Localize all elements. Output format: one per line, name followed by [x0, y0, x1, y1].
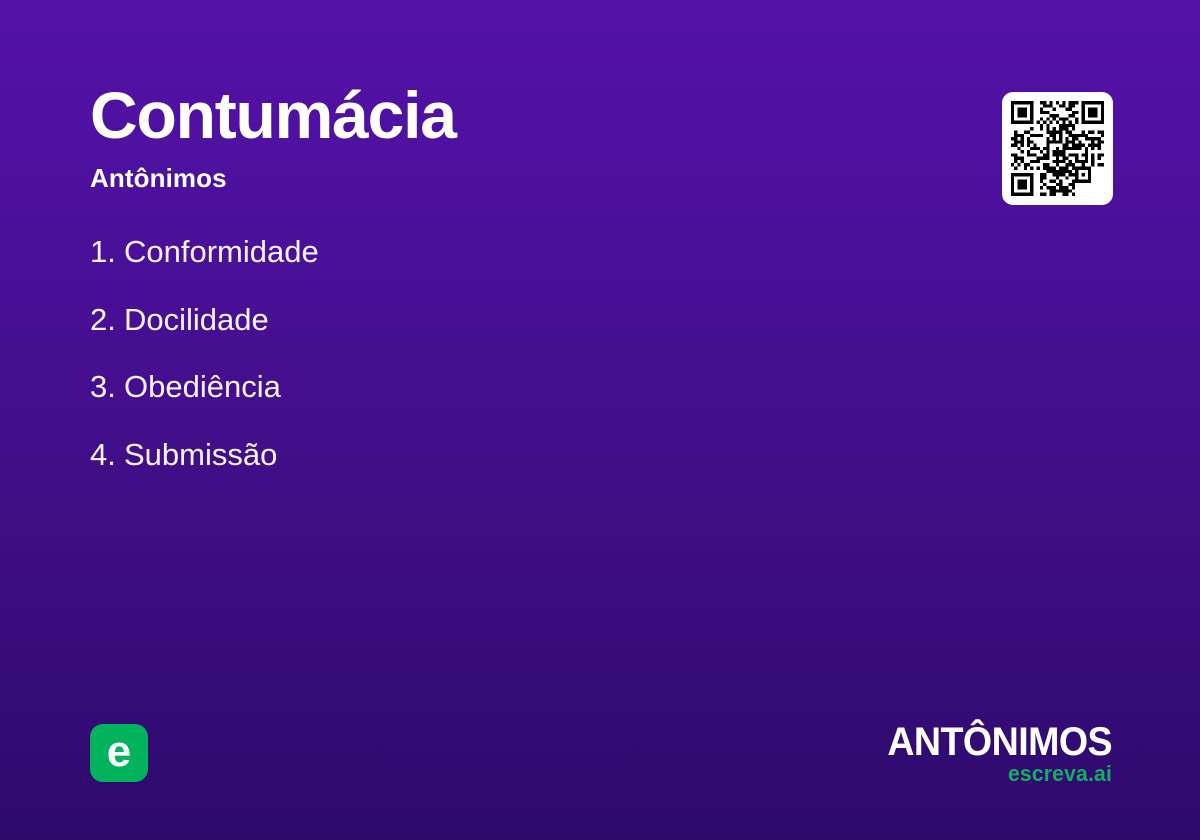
qr-code-panel[interactable]: [1002, 92, 1113, 205]
qr-code-icon: [1011, 101, 1104, 196]
antonym-list: 1.Conformidade 2.Docilidade 3.Obediência…: [90, 236, 850, 470]
page-title: Contumácia: [90, 82, 910, 149]
list-item-index: 3.: [90, 371, 124, 403]
list-item: 4.Submissão: [90, 439, 850, 471]
antonyms-card: Contumácia Antônimos 1.Conformidade 2.Do…: [0, 0, 1200, 840]
list-item-term: Docilidade: [124, 304, 269, 336]
header-block: Contumácia Antônimos: [90, 82, 910, 194]
list-item: 1.Conformidade: [90, 236, 850, 268]
brand-wordmark: ANTÔNIMOS escreva.ai: [873, 722, 1112, 785]
list-item-term: Conformidade: [124, 236, 319, 268]
list-item-term: Obediência: [124, 371, 281, 403]
brand-wordmark-title: ANTÔNIMOS: [887, 722, 1112, 762]
brand-wordmark-subtitle: escreva.ai: [883, 763, 1112, 785]
list-item-index: 1.: [90, 236, 124, 268]
brand-mark-letter: e: [90, 724, 148, 782]
list-item: 3.Obediência: [90, 371, 850, 403]
list-item-index: 4.: [90, 439, 124, 471]
list-item: 2.Docilidade: [90, 304, 850, 336]
escreva-logo-icon[interactable]: e: [90, 724, 148, 782]
list-item-index: 2.: [90, 304, 124, 336]
section-label: Antônimos: [90, 163, 910, 194]
list-item-term: Submissão: [124, 439, 277, 471]
